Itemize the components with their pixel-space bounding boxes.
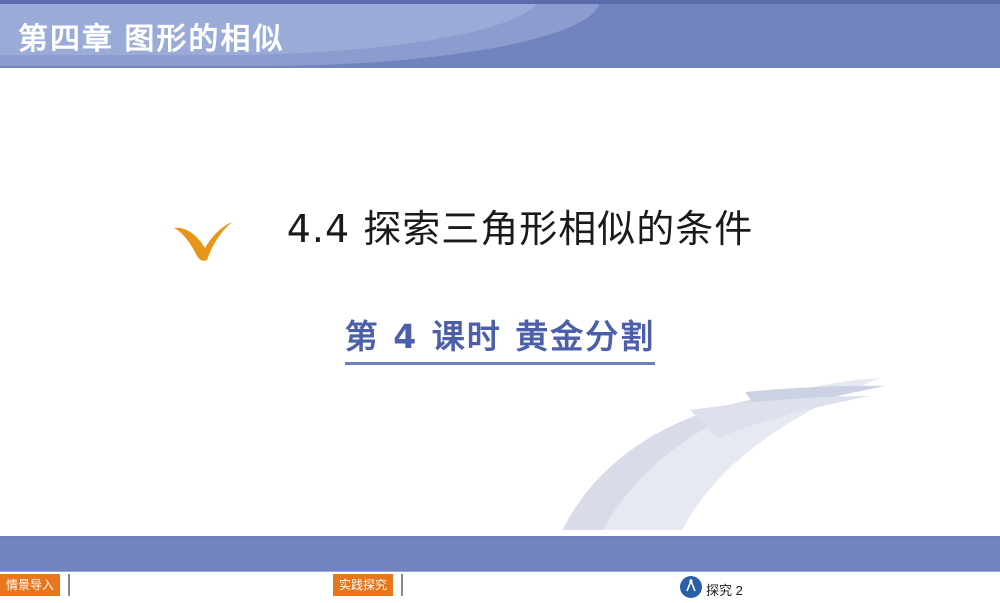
main-title-block: 4.4 探索三角形相似的条件	[0, 200, 1000, 258]
footer-tab-practice[interactable]: 实践探究	[333, 574, 393, 596]
footer-tab-scenario-divider	[68, 574, 70, 596]
footer-explore-group[interactable]: 探究 2	[680, 576, 810, 600]
sub-title: 第 4 课时 黄金分割	[345, 310, 655, 365]
sub-title-block: 第 4 课时 黄金分割	[0, 310, 1000, 365]
compass-icon-glyph	[680, 576, 702, 598]
footer-tab-area	[0, 571, 1000, 601]
footer-tab-practice-divider	[401, 574, 403, 596]
banner-top-strip	[0, 0, 1000, 4]
chapter-title: 第四章 图形的相似	[18, 14, 284, 58]
footer-tab-scenario[interactable]: 情景导入	[0, 574, 60, 596]
compass-icon	[680, 576, 702, 598]
main-title: 4.4 探索三角形相似的条件	[0, 200, 1000, 258]
footer-bar	[0, 539, 1000, 571]
footer-explore-label: 探究 2	[706, 580, 743, 599]
slide-header-banner: 第四章 图形的相似	[0, 0, 1000, 68]
check-mark-icon	[172, 222, 234, 262]
